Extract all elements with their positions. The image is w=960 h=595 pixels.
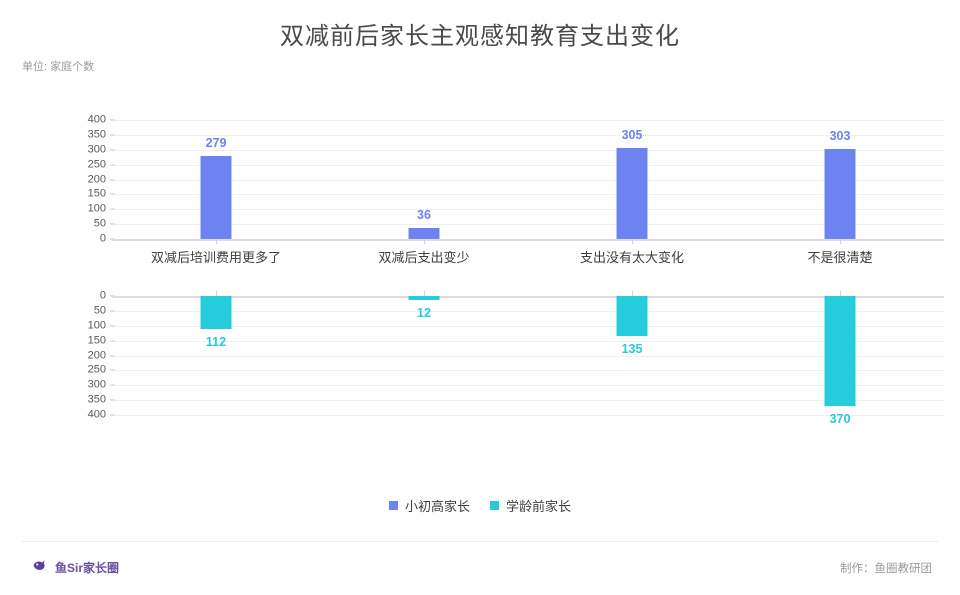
y-axis-tick-label: 150	[70, 335, 106, 346]
page-title: 双减前后家长主观感知教育支出变化	[0, 16, 960, 51]
footer-brand: 鱼Sir家长圈	[32, 558, 119, 577]
y-axis-tick-label: 400	[70, 115, 106, 126]
y-axis-tick-label: 150	[70, 189, 106, 200]
bar	[617, 296, 648, 336]
fish-logo-icon	[32, 558, 47, 577]
bar	[201, 296, 232, 329]
y-axis-tick-label: 250	[70, 159, 106, 170]
x-axis-tick-mark	[216, 291, 217, 296]
x-axis-tick-mark	[424, 291, 425, 296]
category-label: 双减后培训费用更多了	[151, 247, 281, 266]
square-swatch-icon	[490, 501, 499, 510]
x-axis-tick-mark	[840, 291, 841, 296]
chart-unit-note: 单位: 家庭个数	[22, 58, 94, 74]
y-axis-tick-label: 300	[70, 380, 106, 391]
gridline	[112, 415, 944, 416]
bar-value-label: 36	[417, 208, 431, 222]
legend-label: 小初高家长	[405, 496, 470, 515]
bar-value-label: 12	[417, 306, 431, 320]
x-axis-tick-mark	[216, 239, 217, 244]
y-axis-tick-label: 50	[70, 305, 106, 316]
y-axis-tick-label: 350	[70, 129, 106, 140]
category-label: 不是很清楚	[807, 247, 872, 266]
x-axis-tick-mark	[632, 291, 633, 296]
y-axis-tick-label: 0	[70, 234, 106, 245]
y-axis-top: 050100150200250300350400	[70, 120, 106, 239]
bar-value-label: 370	[830, 412, 851, 426]
chart-page: 双减前后家长主观感知教育支出变化 单位: 家庭个数 05010015020025…	[0, 0, 960, 595]
bar	[409, 296, 440, 300]
bar-group-bottom: 11212135370	[112, 296, 944, 415]
bar	[825, 296, 856, 406]
axis-baseline	[112, 239, 944, 241]
bar	[201, 156, 232, 239]
y-axis-tick-label: 300	[70, 144, 106, 155]
y-axis-tick-label: 200	[70, 174, 106, 185]
y-axis-tick-label: 0	[70, 291, 106, 302]
square-swatch-icon	[389, 501, 398, 510]
footer-divider	[22, 541, 938, 542]
category-axis-labels: 双减后培训费用更多了双减后支出变少支出没有太大变化不是很清楚	[112, 247, 944, 267]
y-axis-tick-label: 250	[70, 365, 106, 376]
legend-item[interactable]: 学龄前家长	[490, 496, 571, 515]
category-label: 双减后支出变少	[378, 247, 469, 266]
bar	[409, 228, 440, 239]
bar-value-label: 135	[622, 342, 643, 356]
bar-value-label: 112	[206, 335, 226, 349]
bar	[617, 148, 648, 239]
chart-legend: 小初高家长学龄前家长	[0, 496, 960, 515]
footer-credit: 制作：鱼圈教研团	[840, 560, 932, 576]
plot-area-top: 27936305303	[112, 120, 944, 239]
y-axis-bottom: 050100150200250300350400	[70, 296, 106, 415]
bar-value-label: 303	[830, 129, 851, 143]
x-axis-tick-mark	[632, 239, 633, 244]
y-axis-tick-label: 100	[70, 320, 106, 331]
x-axis-tick-mark	[840, 239, 841, 244]
bar	[825, 149, 856, 239]
x-axis-tick-mark	[424, 239, 425, 244]
y-axis-tick-label: 200	[70, 350, 106, 361]
y-axis-tick-label: 350	[70, 395, 106, 406]
bar-group-top: 27936305303	[112, 120, 944, 239]
bar-value-label: 279	[206, 136, 227, 150]
brand-name: 鱼Sir家长圈	[55, 559, 119, 576]
bar-value-label: 305	[622, 128, 643, 142]
category-label: 支出没有太大变化	[580, 247, 684, 266]
legend-label: 学龄前家长	[506, 496, 571, 515]
y-axis-tick-label: 400	[70, 410, 106, 421]
y-axis-tick-label: 50	[70, 219, 106, 230]
y-axis-tick-label: 100	[70, 204, 106, 215]
plot-area-bottom: 11212135370	[112, 296, 944, 415]
legend-item[interactable]: 小初高家长	[389, 496, 470, 515]
